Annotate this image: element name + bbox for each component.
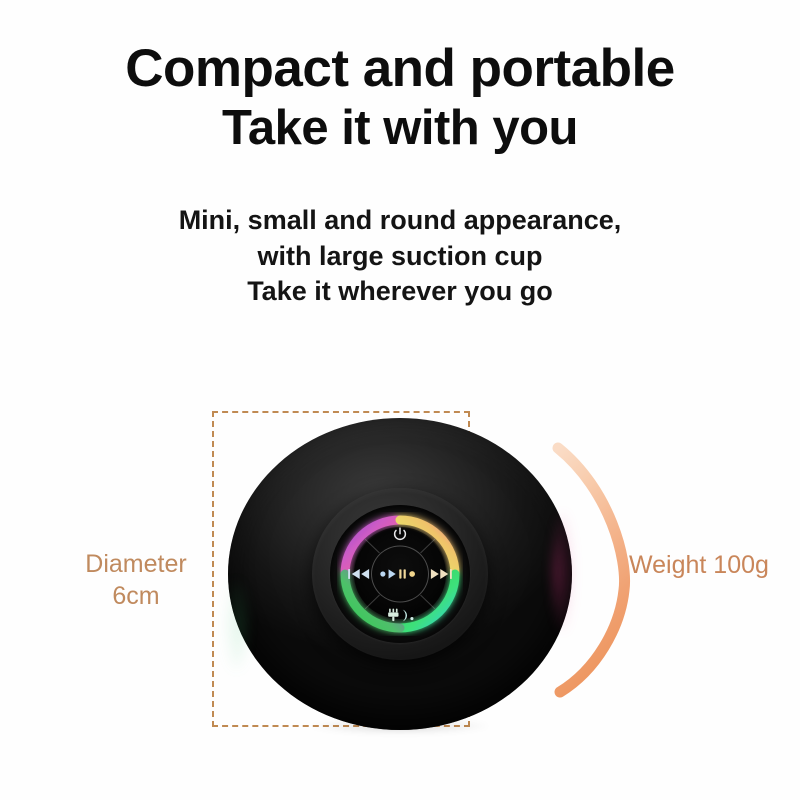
subheadline-line-3: Take it wherever you go xyxy=(0,274,800,310)
diameter-label-text: Diameter xyxy=(56,548,216,580)
diameter-value-text: 6cm xyxy=(56,580,216,612)
subheadline-line-2: with large suction cup xyxy=(0,239,800,275)
light-moon-icon xyxy=(385,608,415,623)
diameter-label: Diameter 6cm xyxy=(56,548,216,612)
speaker-product-photo xyxy=(228,418,572,730)
headline-line-1: Compact and portable xyxy=(0,42,800,96)
rim-glow-right xyxy=(552,512,574,632)
next-button[interactable] xyxy=(430,568,452,581)
light-mode-button[interactable] xyxy=(385,608,415,623)
weight-label: Weight 100g xyxy=(629,551,769,580)
previous-button[interactable] xyxy=(348,568,370,581)
subheadline-line-1: Mini, small and round appearance, xyxy=(0,203,800,239)
play-pause-button[interactable] xyxy=(380,568,420,580)
next-track-icon xyxy=(430,568,452,581)
play-pause-icon xyxy=(380,568,420,580)
subheadline: Mini, small and round appearance, with l… xyxy=(0,203,800,310)
control-panel[interactable] xyxy=(337,512,463,636)
rim-glow-left xyxy=(226,580,246,670)
headline: Compact and portable Take it with you xyxy=(0,42,800,154)
product-feature-image: Compact and portable Take it with you Mi… xyxy=(0,0,800,800)
power-button[interactable] xyxy=(392,526,409,543)
power-icon xyxy=(392,526,409,543)
headline-line-2: Take it with you xyxy=(0,104,800,154)
previous-track-icon xyxy=(348,568,370,581)
control-icons xyxy=(337,512,463,636)
